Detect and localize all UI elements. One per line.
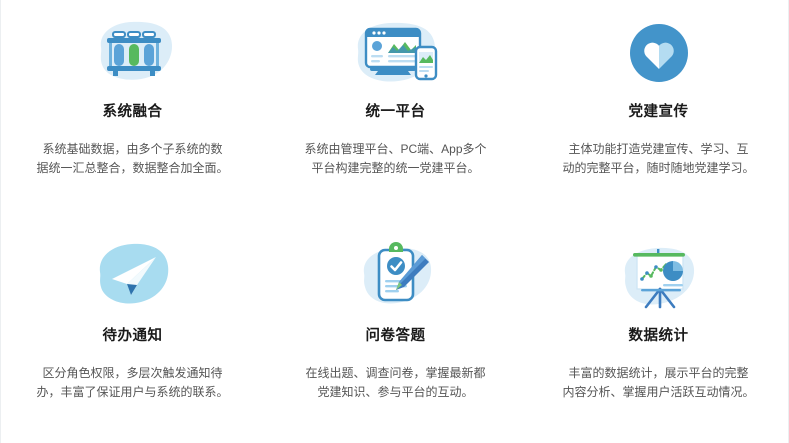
feature-title: 统一平台 bbox=[366, 102, 426, 122]
feature-grid: 系统融合 系统基础数据，由多个子系统的数 据统一汇总整合，数据整合加全面。 bbox=[1, 0, 789, 443]
presentation-chart-icon bbox=[605, 236, 713, 314]
feature-card-system-integration[interactable]: 系统融合 系统基础数据，由多个子系统的数 据统一汇总整合，数据整合加全面。 bbox=[1, 0, 264, 222]
feature-description: 丰富的数据统计，展示平台的完整 内容分析、掌握用户活跃互动情况。 bbox=[551, 364, 766, 402]
feature-card-data-statistics[interactable]: 数据统计 丰富的数据统计，展示平台的完整 内容分析、掌握用户活跃互动情况。 bbox=[527, 222, 789, 443]
feature-description: 区分角色权限，多层次触发通知待 办，丰富了保证用户与系统的联系。 bbox=[28, 364, 238, 402]
clipboard-check-pencil-icon bbox=[342, 236, 450, 314]
multi-platform-screens-icon bbox=[342, 14, 450, 92]
feature-description: 系统由管理平台、PC端、App多个 平台构建完整的统一党建平台。 bbox=[296, 140, 496, 178]
feature-card-todo-notification[interactable]: 待办通知 区分角色权限，多层次触发通知待 办，丰富了保证用户与系统的联系。 bbox=[1, 222, 264, 443]
feature-card-questionnaire[interactable]: 问卷答题 在线出题、调查问卷，掌握最新都 党建知识、参与平台的互动。 bbox=[264, 222, 527, 443]
feature-title: 系统融合 bbox=[103, 102, 163, 122]
feature-description: 系统基础数据，由多个子系统的数 据统一汇总整合，数据整合加全面。 bbox=[28, 140, 238, 178]
test-tube-rack-icon bbox=[79, 14, 187, 92]
feature-description: 主体功能打造党建宣传、学习、互 动的完整平台，随时随地党建学习。 bbox=[551, 140, 766, 178]
feature-title: 数据统计 bbox=[629, 326, 689, 346]
paper-plane-icon bbox=[79, 236, 187, 314]
feature-title: 待办通知 bbox=[103, 326, 163, 346]
feature-title: 问卷答题 bbox=[366, 326, 426, 346]
feature-card-party-publicity[interactable]: 党建宣传 主体功能打造党建宣传、学习、互 动的完整平台，随时随地党建学习。 bbox=[527, 0, 789, 222]
feature-card-unified-platform[interactable]: 统一平台 系统由管理平台、PC端、App多个 平台构建完整的统一党建平台。 bbox=[264, 0, 527, 222]
feature-section-page: 系统融合 系统基础数据，由多个子系统的数 据统一汇总整合，数据整合加全面。 bbox=[0, 0, 789, 443]
feature-description: 在线出题、调查问卷，掌握最新都 党建知识、参与平台的互动。 bbox=[296, 364, 496, 402]
heart-circle-icon bbox=[605, 14, 713, 92]
feature-title: 党建宣传 bbox=[629, 102, 689, 122]
